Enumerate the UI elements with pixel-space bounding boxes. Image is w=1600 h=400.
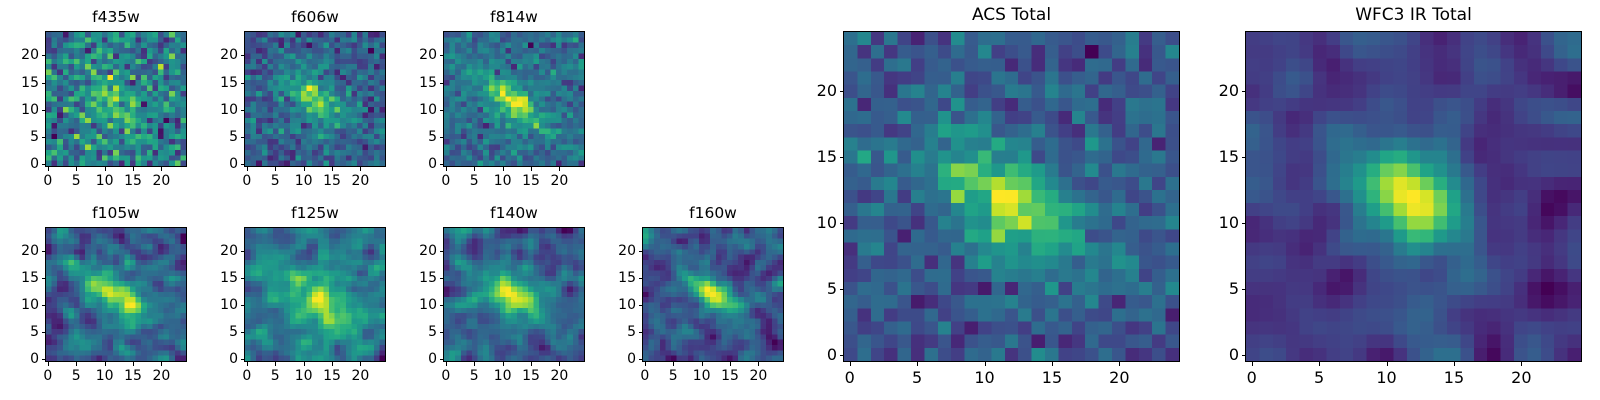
xtick-f435w-15 xyxy=(133,167,134,171)
heatmap-acs-total[interactable] xyxy=(843,31,1180,362)
xtick-f606w-15 xyxy=(332,167,333,171)
xticklabel-f606w-0: 0 xyxy=(242,174,251,188)
yticklabel-wfc3-ir-total-5: 5 xyxy=(1185,281,1239,297)
yticklabel-f140w-15: 15 xyxy=(383,271,437,285)
yticklabel-acs-total-15: 15 xyxy=(783,149,837,165)
panel-title-acs-total: ACS Total xyxy=(843,7,1180,24)
yticklabel-f435w-20: 20 xyxy=(0,48,39,62)
figure-canvas: f435w0510152005101520f606w05101520051015… xyxy=(0,0,1600,400)
yticklabel-f105w-0: 0 xyxy=(0,352,39,366)
xticklabel-f105w-15: 15 xyxy=(124,369,142,383)
yticklabel-f105w-15: 15 xyxy=(0,271,39,285)
xtick-f140w-15 xyxy=(531,362,532,366)
xticklabel-f125w-20: 20 xyxy=(352,369,370,383)
xticklabel-f160w-20: 20 xyxy=(750,369,768,383)
yticklabel-f606w-10: 10 xyxy=(184,103,238,117)
yticklabel-f814w-15: 15 xyxy=(383,76,437,90)
xtick-wfc3-ir-total-5 xyxy=(1319,362,1320,366)
xtick-f140w-0 xyxy=(446,362,447,366)
xticklabel-f140w-0: 0 xyxy=(441,369,450,383)
xticklabel-f125w-10: 10 xyxy=(295,369,313,383)
xtick-f160w-10 xyxy=(702,362,703,366)
yticklabel-f140w-0: 0 xyxy=(383,352,437,366)
xticklabel-f435w-20: 20 xyxy=(153,174,171,188)
xtick-wfc3-ir-total-0 xyxy=(1252,362,1253,366)
yticklabel-f125w-5: 5 xyxy=(184,325,238,339)
panel-title-f606w: f606w xyxy=(244,10,386,26)
xticklabel-f140w-10: 10 xyxy=(494,369,512,383)
heatmap-pixels-f814w xyxy=(444,32,584,166)
xtick-f125w-5 xyxy=(275,362,276,366)
yticklabel-f606w-5: 5 xyxy=(184,130,238,144)
panel-wfc3-ir-total: WFC3 IR Total0510152005101520 xyxy=(0,0,1600,400)
xticklabel-f606w-20: 20 xyxy=(352,174,370,188)
panel-title-f435w: f435w xyxy=(45,10,187,26)
xtick-f160w-0 xyxy=(645,362,646,366)
xticklabel-f606w-15: 15 xyxy=(323,174,341,188)
heatmap-pixels-wfc3-ir-total xyxy=(1246,32,1581,361)
xtick-f125w-15 xyxy=(332,362,333,366)
xticklabel-wfc3-ir-total-10: 10 xyxy=(1376,370,1396,386)
yticklabel-f435w-15: 15 xyxy=(0,76,39,90)
yticklabel-f140w-20: 20 xyxy=(383,244,437,258)
yticklabel-wfc3-ir-total-10: 10 xyxy=(1185,215,1239,231)
xticklabel-acs-total-20: 20 xyxy=(1109,370,1129,386)
heatmap-pixels-f140w xyxy=(444,228,584,361)
yticklabel-f435w-0: 0 xyxy=(0,157,39,171)
yticklabel-acs-total-20: 20 xyxy=(783,83,837,99)
panel-title-wfc3-ir-total: WFC3 IR Total xyxy=(1245,7,1582,24)
yticklabel-acs-total-0: 0 xyxy=(783,347,837,363)
xticklabel-acs-total-10: 10 xyxy=(974,370,994,386)
xtick-f125w-10 xyxy=(304,362,305,366)
panel-title-f140w: f140w xyxy=(443,206,585,222)
yticklabel-f814w-10: 10 xyxy=(383,103,437,117)
xticklabel-acs-total-5: 5 xyxy=(912,370,922,386)
xticklabel-f105w-20: 20 xyxy=(153,369,171,383)
xticklabel-f814w-15: 15 xyxy=(522,174,540,188)
xticklabel-f160w-10: 10 xyxy=(693,369,711,383)
yticklabel-f105w-20: 20 xyxy=(0,244,39,258)
yticklabel-f435w-5: 5 xyxy=(0,130,39,144)
xtick-f814w-0 xyxy=(446,167,447,171)
xtick-f160w-20 xyxy=(758,362,759,366)
xtick-f814w-20 xyxy=(559,167,560,171)
yticklabel-f105w-5: 5 xyxy=(0,325,39,339)
xtick-f814w-15 xyxy=(531,167,532,171)
xtick-f435w-20 xyxy=(161,167,162,171)
xtick-acs-total-20 xyxy=(1119,362,1120,366)
yticklabel-f140w-5: 5 xyxy=(383,325,437,339)
xticklabel-f814w-5: 5 xyxy=(470,174,479,188)
xtick-acs-total-0 xyxy=(850,362,851,366)
xtick-f105w-15 xyxy=(133,362,134,366)
heatmap-pixels-f160w xyxy=(643,228,783,361)
xtick-f435w-10 xyxy=(105,167,106,171)
xticklabel-f814w-20: 20 xyxy=(551,174,569,188)
yticklabel-f435w-10: 10 xyxy=(0,103,39,117)
xtick-f435w-5 xyxy=(76,167,77,171)
xtick-f105w-20 xyxy=(161,362,162,366)
xtick-f105w-10 xyxy=(105,362,106,366)
yticklabel-f814w-20: 20 xyxy=(383,48,437,62)
heatmap-f105w[interactable] xyxy=(45,227,187,362)
heatmap-f160w[interactable] xyxy=(642,227,784,362)
xtick-f435w-0 xyxy=(48,167,49,171)
xticklabel-f606w-5: 5 xyxy=(271,174,280,188)
xtick-wfc3-ir-total-20 xyxy=(1521,362,1522,366)
yticklabel-wfc3-ir-total-20: 20 xyxy=(1185,83,1239,99)
yticklabel-f606w-20: 20 xyxy=(184,48,238,62)
panel-title-f105w: f105w xyxy=(45,206,187,222)
xticklabel-f105w-0: 0 xyxy=(43,369,52,383)
xticklabel-f105w-10: 10 xyxy=(96,369,114,383)
xticklabel-acs-total-0: 0 xyxy=(845,370,855,386)
xtick-f140w-10 xyxy=(503,362,504,366)
xtick-acs-total-5 xyxy=(917,362,918,366)
xticklabel-f435w-15: 15 xyxy=(124,174,142,188)
xtick-f160w-15 xyxy=(730,362,731,366)
heatmap-f606w[interactable] xyxy=(244,31,386,167)
heatmap-pixels-acs-total xyxy=(844,32,1179,361)
xtick-f125w-20 xyxy=(360,362,361,366)
heatmap-f435w[interactable] xyxy=(45,31,187,167)
xticklabel-f435w-0: 0 xyxy=(43,174,52,188)
yticklabel-f606w-15: 15 xyxy=(184,76,238,90)
xticklabel-f140w-5: 5 xyxy=(470,369,479,383)
xticklabel-acs-total-15: 15 xyxy=(1042,370,1062,386)
xticklabel-wfc3-ir-total-15: 15 xyxy=(1444,370,1464,386)
yticklabel-f160w-5: 5 xyxy=(582,325,636,339)
xticklabel-f435w-10: 10 xyxy=(96,174,114,188)
heatmap-pixels-f435w xyxy=(46,32,186,166)
heatmap-pixels-f606w xyxy=(245,32,385,166)
yticklabel-f140w-10: 10 xyxy=(383,298,437,312)
heatmap-wfc3-ir-total[interactable] xyxy=(1245,31,1582,362)
xtick-f606w-20 xyxy=(360,167,361,171)
xtick-f125w-0 xyxy=(247,362,248,366)
xticklabel-wfc3-ir-total-0: 0 xyxy=(1247,370,1257,386)
xtick-f814w-5 xyxy=(474,167,475,171)
xticklabel-f160w-15: 15 xyxy=(721,369,739,383)
yticklabel-f125w-15: 15 xyxy=(184,271,238,285)
xticklabel-f125w-15: 15 xyxy=(323,369,341,383)
xticklabel-f435w-5: 5 xyxy=(72,174,81,188)
panel-title-f160w: f160w xyxy=(642,206,784,222)
xtick-acs-total-10 xyxy=(985,362,986,366)
xtick-wfc3-ir-total-15 xyxy=(1454,362,1455,366)
xticklabel-f606w-10: 10 xyxy=(295,174,313,188)
xticklabel-wfc3-ir-total-20: 20 xyxy=(1511,370,1531,386)
xtick-f140w-20 xyxy=(559,362,560,366)
heatmap-f814w[interactable] xyxy=(443,31,585,167)
yticklabel-f160w-20: 20 xyxy=(582,244,636,258)
yticklabel-acs-total-10: 10 xyxy=(783,215,837,231)
yticklabel-f125w-0: 0 xyxy=(184,352,238,366)
yticklabel-f125w-10: 10 xyxy=(184,298,238,312)
xtick-f160w-5 xyxy=(673,362,674,366)
xticklabel-f105w-5: 5 xyxy=(72,369,81,383)
heatmap-f140w[interactable] xyxy=(443,227,585,362)
xtick-f606w-10 xyxy=(304,167,305,171)
xtick-f140w-5 xyxy=(474,362,475,366)
heatmap-pixels-f105w xyxy=(46,228,186,361)
xticklabel-f125w-5: 5 xyxy=(271,369,280,383)
xticklabel-f140w-20: 20 xyxy=(551,369,569,383)
heatmap-f125w[interactable] xyxy=(244,227,386,362)
yticklabel-f606w-0: 0 xyxy=(184,157,238,171)
panel-title-f814w: f814w xyxy=(443,10,585,26)
yticklabel-wfc3-ir-total-15: 15 xyxy=(1185,149,1239,165)
xtick-f105w-5 xyxy=(76,362,77,366)
yticklabel-f160w-15: 15 xyxy=(582,271,636,285)
xtick-wfc3-ir-total-10 xyxy=(1387,362,1388,366)
xticklabel-f160w-5: 5 xyxy=(669,369,678,383)
xticklabel-f160w-0: 0 xyxy=(640,369,649,383)
yticklabel-f160w-10: 10 xyxy=(582,298,636,312)
xtick-acs-total-15 xyxy=(1052,362,1053,366)
xticklabel-f814w-10: 10 xyxy=(494,174,512,188)
xticklabel-f814w-0: 0 xyxy=(441,174,450,188)
yticklabel-f814w-0: 0 xyxy=(383,157,437,171)
yticklabel-wfc3-ir-total-0: 0 xyxy=(1185,347,1239,363)
xtick-f606w-5 xyxy=(275,167,276,171)
panel-title-f125w: f125w xyxy=(244,206,386,222)
yticklabel-f105w-10: 10 xyxy=(0,298,39,312)
yticklabel-f160w-0: 0 xyxy=(582,352,636,366)
xticklabel-f140w-15: 15 xyxy=(522,369,540,383)
yticklabel-f125w-20: 20 xyxy=(184,244,238,258)
xtick-f606w-0 xyxy=(247,167,248,171)
xtick-f814w-10 xyxy=(503,167,504,171)
yticklabel-acs-total-5: 5 xyxy=(783,281,837,297)
xticklabel-wfc3-ir-total-5: 5 xyxy=(1314,370,1324,386)
heatmap-pixels-f125w xyxy=(245,228,385,361)
yticklabel-f814w-5: 5 xyxy=(383,130,437,144)
xticklabel-f125w-0: 0 xyxy=(242,369,251,383)
xtick-f105w-0 xyxy=(48,362,49,366)
